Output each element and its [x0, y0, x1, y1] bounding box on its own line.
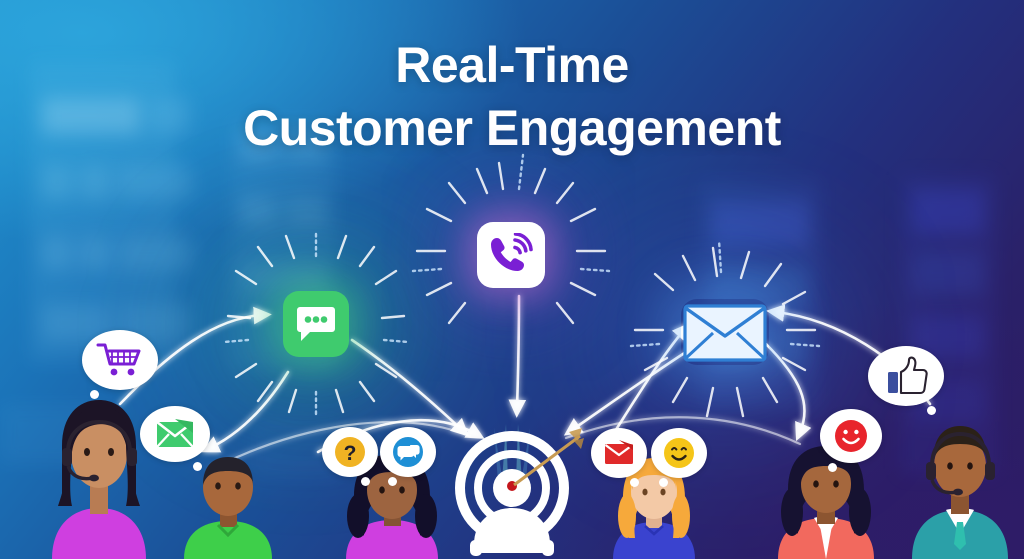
- thought-bubble-smiley-red[interactable]: [820, 409, 882, 463]
- avatar-customer-male-green: [180, 455, 276, 559]
- smiley-face-icon: [662, 436, 696, 470]
- chat-tile-rays: [221, 229, 411, 419]
- question-mark-icon: ?: [333, 435, 367, 469]
- shopping-cart-icon: [96, 340, 144, 380]
- email-tile-rays: [625, 237, 825, 427]
- person-agent-female-headset[interactable]: [42, 390, 154, 559]
- thought-bubble-chat-reply[interactable]: [380, 427, 436, 477]
- thumbs-up-icon: [884, 356, 928, 396]
- voice-tile-rays: [406, 150, 616, 360]
- chat-bubble-icon: [391, 435, 425, 469]
- engagement-infographic: Real-Time Customer Engagement: [0, 0, 1024, 559]
- smiley-face-icon: [832, 417, 870, 455]
- thought-bubble-smiley-yellow[interactable]: [651, 428, 707, 478]
- thought-bubble-question-mark[interactable]: ?: [322, 427, 378, 477]
- thought-bubble-thumbs-up[interactable]: [868, 346, 944, 406]
- envelope-icon: [154, 417, 196, 451]
- thought-bubble-shopping-cart[interactable]: [82, 330, 158, 390]
- svg-text:?: ?: [344, 442, 357, 465]
- avatar-agent-male-headset: [908, 410, 1012, 559]
- person-agent-male-headset[interactable]: [908, 410, 1012, 559]
- thought-bubble-green-envelope[interactable]: [140, 406, 210, 462]
- thought-bubble-red-envelope[interactable]: [591, 428, 647, 478]
- engagement-target-hub[interactable]: [448, 424, 584, 559]
- avatar-agent-female-headset: [42, 390, 154, 559]
- person-customer-male-green[interactable]: [180, 455, 276, 559]
- envelope-icon: [602, 439, 636, 467]
- target-bullseye-icon: [448, 424, 584, 559]
